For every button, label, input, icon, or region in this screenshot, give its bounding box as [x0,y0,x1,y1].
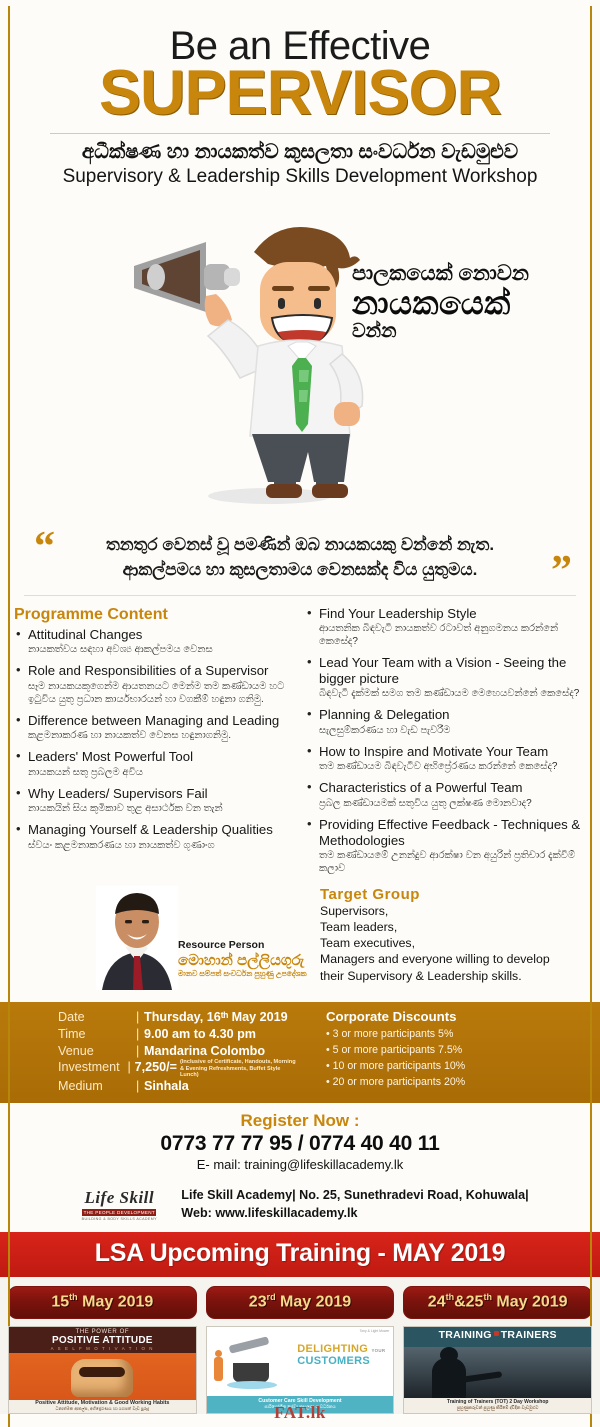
discount-label: 20 or more participants 20% [333,1076,466,1088]
thumb-3-header: TRAININGTRAINERS [404,1327,591,1347]
item-subtitle: සෑම නායකයකුගෙන්ම ආයතනයට මෙන්ම තම කණ්ඩායම… [28,680,295,706]
upcoming-training-cards: 15th May 2019 THE POWER OF POSITIVE ATTI… [0,1277,600,1413]
target-group-line: Supervisors, [320,903,588,919]
item-title: Why Leaders/ Supervisors Fail [28,786,295,802]
thumb-3-speaker-image [404,1347,591,1398]
detail-value: Sinhala [144,1078,189,1095]
badge-day-suffix: th [446,1292,455,1302]
thumb-1-header: THE POWER OF POSITIVE ATTITUDE A S E L F… [9,1327,196,1353]
detail-key: Time [58,1026,136,1043]
person-icon [214,1357,223,1381]
logo-wordmark: Life Skill [84,1188,154,1208]
footer-address-block: Life Skill THE PEOPLE DEVELOPMENT BUILDI… [10,1186,590,1227]
discount-item: • 20 or more participants 20% [326,1075,600,1091]
item-subtitle: නායකයන් සතු ප්‍රබලම අවිය [28,766,295,779]
resource-person-info: Resource Person මොහාන් පල්ලියගුරු මානව ස… [178,939,318,978]
detail-separator: | [136,1009,144,1026]
item-title: Find Your Leadership Style [319,606,586,622]
list-item: Leaders' Most Powerful Tool නායකයන් සතු … [14,749,295,779]
quote-line-1: තනතුර වෙනස් වූ පමණින් ඔබ නායකයකු වන්නේ න… [56,532,544,558]
subtitle-english: Supervisory & Leadership Skills Developm… [20,165,580,190]
badge-day: 23 [249,1294,267,1311]
list-item: Characteristics of a Powerful Team ප්‍රබ… [305,780,586,810]
programme-left-column: Programme Content Attitudinal Changes නා… [14,606,295,883]
address-text: Life Skill Academy| No. 25, Sunethradevi… [181,1186,528,1223]
detail-separator: | [136,1043,144,1060]
item-title: Attitudinal Changes [28,627,295,643]
thumb-1-title: POSITIVE ATTITUDE [9,1335,196,1346]
register-block: Register Now : 0773 77 77 95 / 0774 40 4… [8,1103,592,1233]
bucket-icon [233,1363,269,1382]
programme-left-list: Attitudinal Changes නායකත්වය සඳහා අවශ්‍ය… [14,627,295,852]
quote-line-2: ආකල්පමය හා කුසලතාමය වෙනසක්ද විය යුතුමය. [56,557,544,583]
list-item: How to Inspire and Motivate Your Team තම… [305,744,586,774]
target-group-line: Managers and everyone willing to develop [320,951,588,967]
speaker-arm-icon [462,1371,502,1383]
thumb-2-your-text: YOUR [371,1348,385,1353]
square-dot-icon [494,1331,499,1336]
quote-open-mark: “ [34,526,55,568]
target-group-line: Team leaders, [320,919,588,935]
upcoming-training-heading: LSA Upcoming Training - MAY 2019 [0,1239,600,1268]
item-subtitle: තම කණ්ඩායම බිඳවැටීව අභිප්‍රේරණය කරන්නේ ක… [319,760,586,773]
badge-day: 15 [51,1294,69,1311]
table-row: Investment | 7,250/= (Inclusive of Certi… [58,1059,300,1078]
thumb-1-subtitle: A S E L F M O T I V A T I O N [9,1346,196,1351]
table-row: Date | Thursday, 16ᵗʰ May 2019 [58,1009,300,1026]
upcoming-training-banner: LSA Upcoming Training - MAY 2019 [0,1232,600,1277]
item-subtitle: සැලසුම්කරණය හා වැඩ පැවරීම [319,724,586,737]
address-line-1: Life Skill Academy| No. 25, Sunethradevi… [181,1186,528,1204]
item-subtitle: බිඳවැටී දැක්මක් සමග තම කණ්ඩායම මෙහෙයවන්න… [319,687,586,700]
detail-separator: | [136,1026,144,1043]
item-title: Role and Responsibilities of a Superviso… [28,663,295,679]
date-badge-3: 24th&25th May 2019 [403,1286,592,1318]
item-title: Providing Effective Feedback - Technique… [319,817,586,848]
item-title: Leaders' Most Powerful Tool [28,749,295,765]
flyer-poster: Be an Effective SUPERVISOR අධීක්ෂණ හා නා… [0,0,600,1427]
address-line-2[interactable]: Web: www.lifeskillacademy.lk [181,1204,528,1222]
table-row: Venue | Mandarina Colombo [58,1043,300,1060]
programme-right-column: Find Your Leadership Style ආයතනික බිඳවැට… [305,606,586,883]
resource-person-photo [96,886,178,990]
register-phone[interactable]: 0773 77 77 95 / 0774 40 40 11 [10,1132,590,1156]
resource-person-credentials: මානව සම්පත් සංවර්ධන පුහුණු උපදේශක [178,969,318,978]
list-item: Managing Yourself & Leadership Qualities… [14,822,295,852]
list-item: Attitudinal Changes නායකත්වය සඳහා අවශ්‍ය… [14,627,295,657]
thumb-2-body: Tony & Light Mower DELIGHTING YOUR CUSTO… [207,1327,394,1413]
date-badge-1: 15th May 2019 [8,1286,197,1318]
discount-label: 5 or more participants 7.5% [333,1044,463,1056]
register-title: Register Now : [10,1111,590,1131]
item-subtitle: ආයතනික බිඳවැටී නායකත්ව රටාවත් අනුගමනය කර… [319,622,586,648]
discount-item: • 3 or more participants 5% [326,1027,600,1043]
badge-day: 24 [428,1294,446,1311]
header-divider [50,133,550,134]
target-group-title: Target Group [320,886,588,903]
badge-day-suffix: rd [267,1292,276,1302]
list-item: Role and Responsibilities of a Superviso… [14,663,295,706]
item-subtitle: නායකත්වය සඳහා අවශ්‍ය ආකල්පමය වෙනස [28,643,295,656]
thumb-1-fist-image [9,1353,196,1400]
discount-label: 3 or more participants 5% [333,1028,454,1040]
quote-close-mark: ” [551,550,572,592]
detail-value: 7,250/= [135,1059,177,1078]
item-subtitle: කළමනාකරණ හා නායකත්ව වෙනස හඳුනාගනිමු. [28,729,295,742]
discounts-title: Corporate Discounts [326,1009,600,1024]
table-row: Time | 9.00 am to 4.30 pm [58,1026,300,1043]
detail-key: Venue [58,1043,136,1060]
hero-caption-line-1: පාලකයෙක් නොවන [352,262,582,286]
list-item: Find Your Leadership Style ආයතනික බිඳවැට… [305,606,586,649]
event-details-list: Date | Thursday, 16ᵗʰ May 2019 Time | 9.… [0,1009,300,1095]
investment-fine-print: (Inclusive of Certificate, Handouts, Mor… [180,1059,300,1078]
poster-header: Be an Effective SUPERVISOR අධීක්ෂණ හා නා… [0,0,600,194]
thumb-3-title-1: TRAINING [439,1329,492,1341]
upcoming-card-1[interactable]: 15th May 2019 THE POWER OF POSITIVE ATTI… [8,1286,197,1413]
list-item: Lead Your Team with a Vision - Seeing th… [305,655,586,700]
upcoming-card-3[interactable]: 24th&25th May 2019 TRAININGTRAINERS Trai… [403,1286,592,1413]
badge-month-year: May 2019 [276,1294,352,1311]
thumb-3-title-2: TRAINERS [501,1329,557,1341]
detail-value: Thursday, 16ᵗʰ May 2019 [144,1009,288,1026]
item-title: Difference between Managing and Leading [28,713,295,729]
course-thumbnail-1[interactable]: THE POWER OF POSITIVE ATTITUDE A S E L F… [8,1326,197,1414]
hero-caption-line-3: වන්න [352,321,582,344]
thumb-2-title-1-text: DELIGHTING [297,1343,368,1355]
hero-caption-line-2: නායකයෙක් [352,286,582,321]
subtitle-sinhala: අධීක්ෂණ හා නායකත්ව කුසලතා සංවර්ධන වැඩමුළ… [20,140,580,165]
list-item: Difference between Managing and Leading … [14,713,295,743]
detail-value: 9.00 am to 4.30 pm [144,1026,256,1043]
thumb-2-corner-text: Tony & Light Mower [207,1327,394,1333]
badge-day-2-suffix: th [483,1292,492,1302]
detail-separator: | [128,1059,135,1078]
item-title: Lead Your Team with a Vision - Seeing th… [319,655,586,686]
table-row: Medium | Sinhala [58,1078,300,1095]
quote-block: “ තනතුර වෙනස් වූ පමණින් ඔබ නායකයකු වන්නේ… [18,522,582,591]
programme-right-list: Find Your Leadership Style ආයතනික බිඳවැට… [305,606,586,876]
list-item: Providing Effective Feedback - Technique… [305,817,586,875]
discount-item: • 10 or more participants 10% [326,1059,600,1075]
tap-icon [228,1336,269,1353]
detail-key: Medium [58,1078,136,1095]
hero-section: පාලකයෙක් නොවන නායකයෙක් වන්න [0,200,600,518]
corporate-discounts-block: Corporate Discounts • 3 or more particip… [300,1009,600,1095]
badge-month-year: May 2019 [78,1294,154,1311]
life-skill-academy-logo: Life Skill THE PEOPLE DEVELOPMENT BUILDI… [71,1188,167,1221]
item-subtitle: තම කණ්ඩායමේ උනන්දුව ආරක්ෂා වන අයුරින් ප්… [319,849,586,875]
programme-content: Programme Content Attitudinal Changes නා… [0,596,600,883]
resource-and-target-band: Resource Person මොහාන් පල්ලියගුරු මානව ස… [0,884,600,1002]
man-with-megaphone-illustration [120,208,390,508]
item-subtitle: නායකයින් සිය කුමිකාව තුළ අසාර්ථක වන තැන් [28,802,295,815]
list-item: Why Leaders/ Supervisors Fail නායකයින් ස… [14,786,295,816]
item-title: Managing Yourself & Leadership Qualities [28,822,295,838]
thumb-3-title-group: TRAININGTRAINERS [404,1329,591,1341]
badge-month-year: May 2019 [492,1294,568,1311]
upcoming-card-2[interactable]: 23rd May 2019 Tony & Light Mower DELIGHT… [206,1286,395,1413]
page-title: SUPERVISOR [20,64,580,124]
badge-day-suffix: th [69,1292,78,1302]
course-thumbnail-2[interactable]: Tony & Light Mower DELIGHTING YOUR CUSTO… [206,1326,395,1414]
item-title: How to Inspire and Motivate Your Team [319,744,586,760]
discount-item: • 5 or more participants 7.5% [326,1043,600,1059]
thumb-2-title-group: DELIGHTING YOUR CUSTOMERS [297,1343,385,1367]
target-group-block: Target Group Supervisors, Team leaders, … [320,886,588,983]
target-group-line: their Supervisory & Leadership skills. [320,968,588,984]
list-item: Planning & Delegation සැලසුම්කරණය හා වැඩ… [305,707,586,737]
date-badge-2: 23rd May 2019 [206,1286,395,1318]
resource-person-label: Resource Person [178,939,318,951]
item-title: Characteristics of a Powerful Team [319,780,586,796]
discount-label: 10 or more participants 10% [333,1060,466,1072]
detail-value: Mandarina Colombo [144,1043,265,1060]
detail-key: Date [58,1009,136,1026]
fist-icon [71,1359,133,1397]
water-puddle-icon [227,1381,277,1389]
logo-bar-text: THE PEOPLE DEVELOPMENT [82,1209,156,1216]
badge-day-2: &25 [454,1294,483,1311]
hero-caption: පාලකයෙක් නොවන නායකයෙක් වන්න [352,262,582,344]
event-details-bar: Date | Thursday, 16ᵗʰ May 2019 Time | 9.… [0,1002,600,1103]
detail-key: Investment [58,1059,128,1078]
course-thumbnail-3[interactable]: TRAININGTRAINERS Training of Trainers (T… [403,1326,592,1414]
thumb-2-title-1: DELIGHTING YOUR [297,1343,385,1355]
target-group-line: Team executives, [320,935,588,951]
register-email[interactable]: E- mail: training@lifeskillacademy.lk [10,1157,590,1172]
item-title: Planning & Delegation [319,707,586,723]
item-subtitle: ස්වයං කළමනාකරණය හා නායකත්ව ගුණාංග [28,839,295,852]
item-subtitle: ප්‍රබල කණ්ඩායමක් සතුවිය යුතු ලක්ෂණ මොනවා… [319,797,586,810]
resource-person-name: මොහාන් පල්ලියගුරු [178,952,318,969]
detail-separator: | [136,1078,144,1095]
watermark: FAT.lk [0,1403,600,1423]
programme-title: Programme Content [14,606,295,624]
logo-tagline: BUILDING & BODY SKILLS ACADEMY [71,1217,167,1221]
thumb-2-title-2: CUSTOMERS [297,1355,385,1367]
